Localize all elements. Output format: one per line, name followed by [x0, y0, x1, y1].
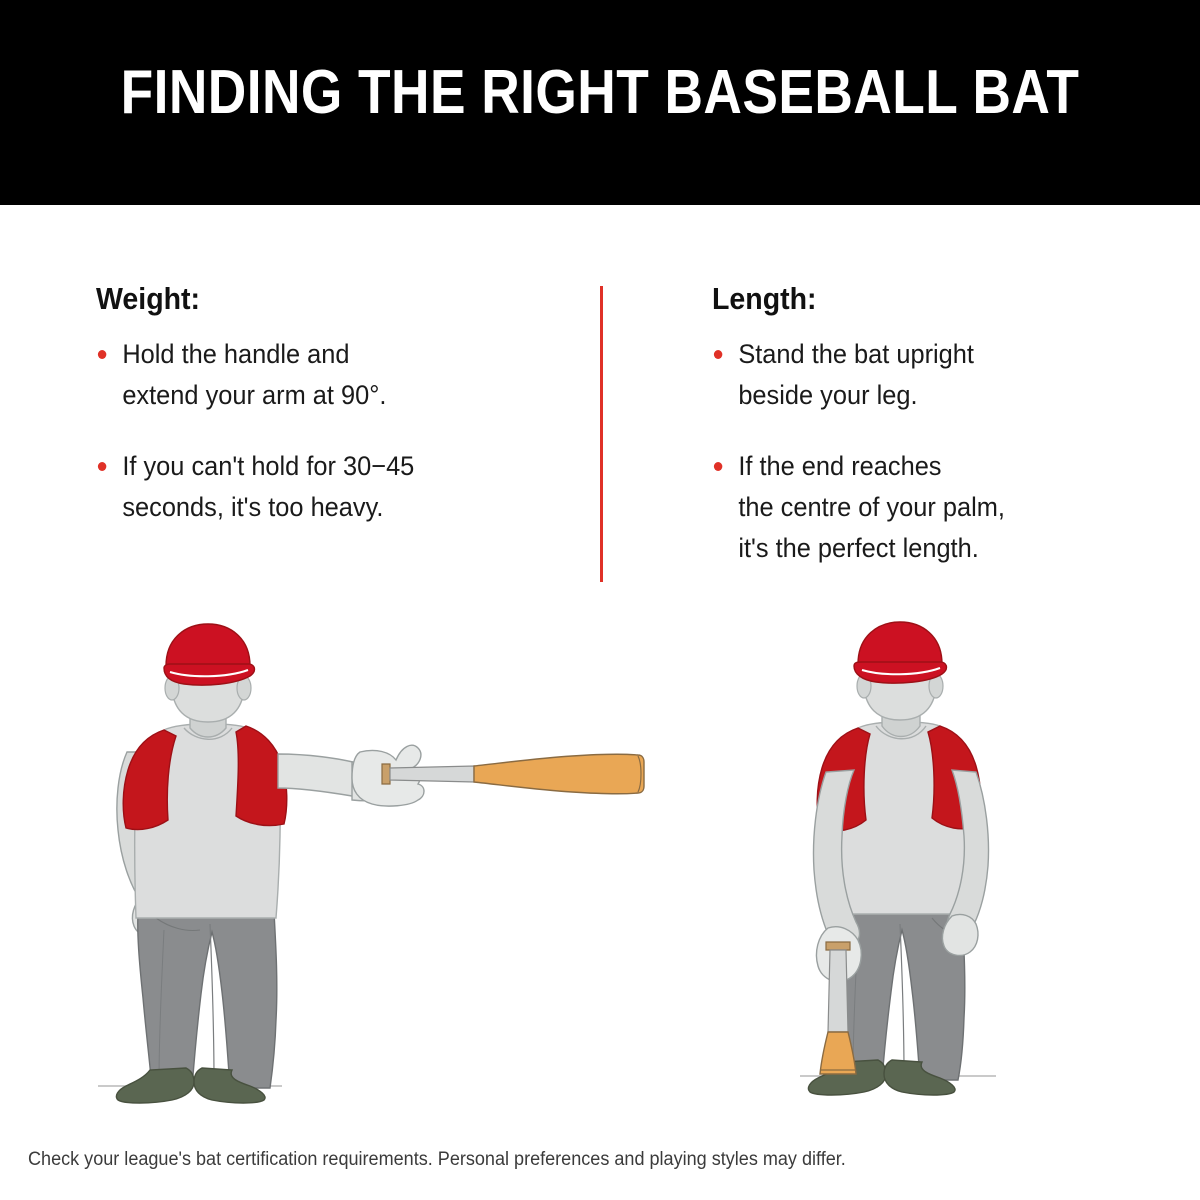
- bullet-line: it's the perfect length.: [738, 528, 1088, 569]
- bat-knob: [826, 942, 850, 950]
- list-item: Hold the handle and extend your arm at 9…: [96, 334, 538, 416]
- shoe-left: [116, 1068, 194, 1103]
- pants-crease: [210, 924, 214, 1082]
- bullet-list-weight: Hold the handle and extend your arm at 9…: [96, 334, 566, 528]
- bullet-dot-icon: [98, 462, 106, 471]
- bullet-line: Stand the bat upright: [738, 334, 1088, 375]
- bullet-list-length: Stand the bat upright beside your leg. I…: [712, 334, 1112, 569]
- bullet-line: If the end reaches: [738, 446, 1088, 487]
- bullet-line: beside your leg.: [738, 375, 1088, 416]
- bullet-line: If you can't hold for 30−45: [122, 446, 537, 487]
- pants-crease: [900, 924, 904, 1074]
- bat-knob: [382, 764, 390, 784]
- header-bar: FINDING THE RIGHT BASEBALL BAT: [0, 0, 1200, 205]
- footer-note: Check your league's bat certification re…: [28, 1148, 1121, 1172]
- illustration-length-test: [740, 612, 1040, 1117]
- pants: [138, 912, 277, 1088]
- page-title: FINDING THE RIGHT BASEBALL BAT: [84, 58, 1116, 128]
- column-divider: [600, 286, 603, 582]
- bat-handle: [828, 950, 848, 1032]
- hand-right-in-pocket: [942, 914, 978, 955]
- sleeve-red-left: [123, 730, 176, 830]
- bullet-line: the centre of your palm,: [738, 487, 1088, 528]
- heading-weight: Weight:: [96, 282, 528, 316]
- bat-handle: [390, 766, 474, 782]
- list-item: If the end reaches the centre of your pa…: [712, 446, 1088, 569]
- bullet-dot-icon: [714, 350, 722, 359]
- infographic-page: FINDING THE RIGHT BASEBALL BAT Weight: H…: [0, 0, 1200, 1200]
- list-item: Stand the bat upright beside your leg.: [712, 334, 1088, 416]
- bullet-line: seconds, it's too heavy.: [122, 487, 537, 528]
- bullet-line: Hold the handle and: [122, 334, 537, 375]
- column-length: Length: Stand the bat upright beside you…: [712, 282, 1112, 569]
- illustration-weight-test: [60, 612, 680, 1117]
- heading-length: Length:: [712, 282, 1080, 316]
- column-weight: Weight: Hold the handle and extend your …: [96, 282, 566, 528]
- bullet-line: extend your arm at 90°.: [122, 375, 537, 416]
- bat-barrel: [474, 754, 644, 793]
- bullet-dot-icon: [714, 462, 722, 471]
- bullet-dot-icon: [98, 350, 106, 359]
- list-item: If you can't hold for 30−45 seconds, it'…: [96, 446, 538, 528]
